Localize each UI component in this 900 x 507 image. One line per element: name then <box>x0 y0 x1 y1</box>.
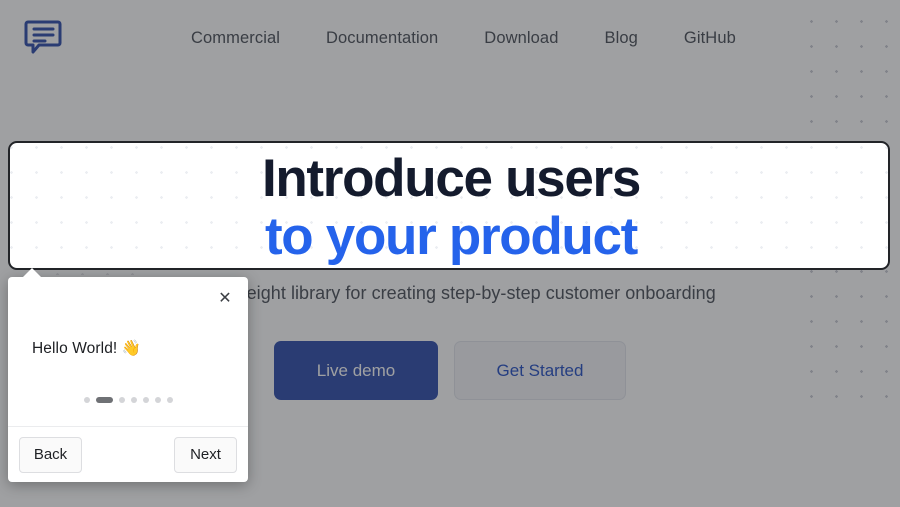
close-icon[interactable]: ✕ <box>212 286 238 312</box>
spotlight-heading-line-1: Introduce users <box>10 150 890 208</box>
tooltip-step-indicators <box>8 397 248 403</box>
step-dot[interactable] <box>131 397 137 403</box>
tooltip-arrow <box>22 268 42 278</box>
onboarding-tooltip: ✕ Hello World! 👋 Back Next <box>8 277 248 482</box>
step-dot[interactable] <box>143 397 149 403</box>
tooltip-back-button[interactable]: Back <box>19 437 82 473</box>
step-dot[interactable] <box>155 397 161 403</box>
onboarding-spotlight-highlight: Introduce users to your product <box>8 141 890 270</box>
step-dot[interactable] <box>84 397 90 403</box>
step-dot[interactable] <box>167 397 173 403</box>
page-root: Commercial Documentation Download Blog G… <box>0 0 900 507</box>
spotlight-heading: Introduce users to your product <box>10 150 890 266</box>
step-dot[interactable] <box>119 397 125 403</box>
tooltip-next-button[interactable]: Next <box>174 437 237 473</box>
tooltip-footer: Back Next <box>8 426 248 482</box>
spotlight-heading-line-2: to your product <box>10 208 890 266</box>
tooltip-message: Hello World! 👋 <box>32 339 230 358</box>
step-dot-active[interactable] <box>96 397 113 403</box>
